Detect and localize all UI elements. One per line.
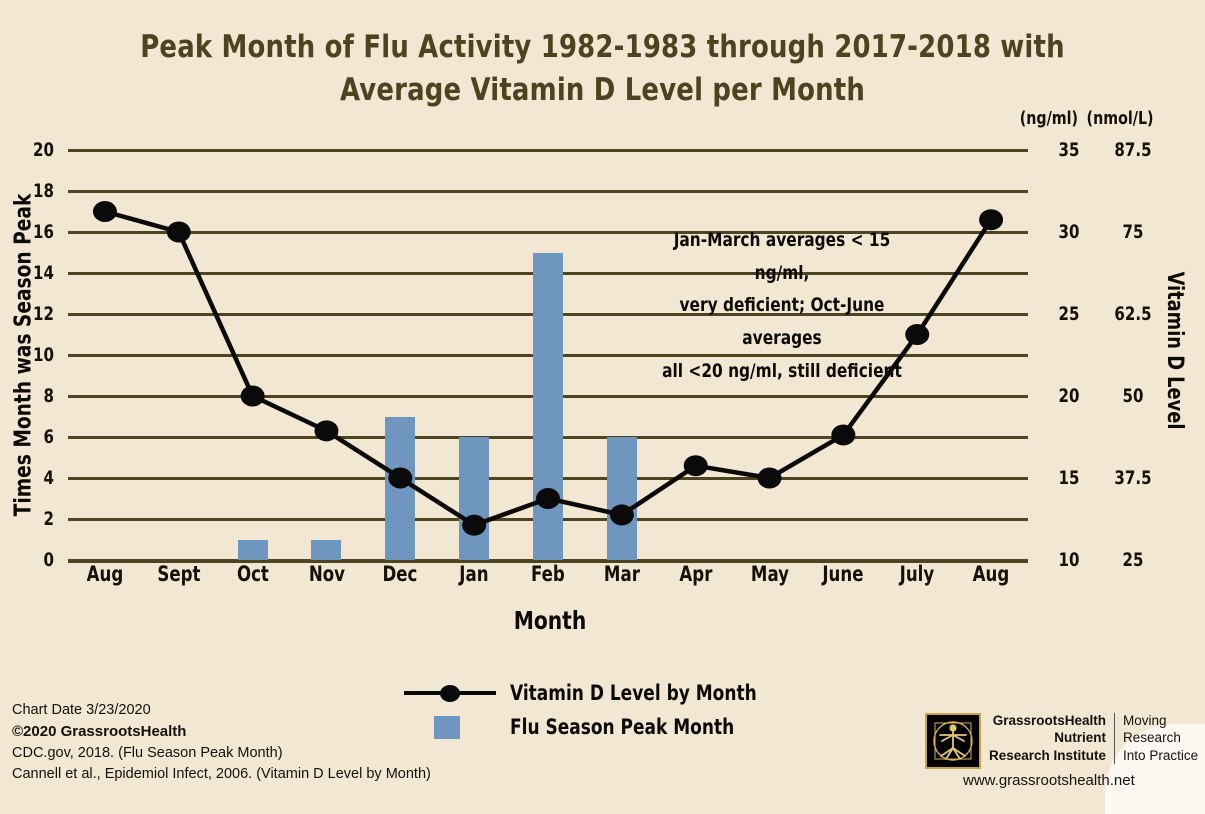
x-axis-tick-jan-5: Jan: [442, 562, 507, 586]
logo-name-line-3: Research Institute: [989, 747, 1106, 764]
x-axis-tick-apr-8: Apr: [663, 562, 728, 586]
logo-text-block: GrassrootsHealth Nutrient Research Insti…: [989, 712, 1198, 764]
chart-annotation: Jan-March averages < 15 ng/ml, very defi…: [647, 224, 917, 387]
data-point-marker[interactable]: [167, 222, 191, 243]
logo-name-line-2: Nutrient: [989, 729, 1106, 746]
right-axis-nmol-tick-label: 25: [1102, 549, 1164, 571]
chart-title-line-1: Peak Month of Flu Activity 1982-1983 thr…: [140, 29, 1064, 65]
footer-source-cannell: Cannell et al., Epidemiol Infect, 2006. …: [12, 764, 431, 785]
right-axis-nmol-tick-label: 75: [1102, 221, 1164, 243]
data-point-marker[interactable]: [831, 424, 855, 445]
right-axis-ngml-tick-label: 20: [1045, 385, 1093, 407]
logo-tagline-line-3: Into Practice: [1123, 747, 1198, 764]
right-axis-ngml-tick-label: 25: [1045, 303, 1093, 325]
right-axis-unit-ngml: (ng/ml): [1020, 108, 1075, 129]
right-axis-nmol-tick-label: 62.5: [1102, 303, 1164, 325]
annotation-line-1: Jan-March averages < 15 ng/ml,: [647, 224, 917, 289]
right-axis-ngml-tick-label: 35: [1045, 139, 1093, 161]
right-axis-nmol-tick-label: 50: [1102, 385, 1164, 407]
legend-item-flu-peak[interactable]: Flu Season Peak Month: [404, 710, 784, 744]
chart-title-line-2: Average Vitamin D Level per Month: [42, 69, 1163, 112]
data-point-marker[interactable]: [684, 455, 708, 476]
right-axis-unit-nmol: (nmol/L): [1087, 108, 1154, 129]
x-axis-tick-sept-1: Sept: [146, 562, 211, 586]
x-axis-tick-dec-4: Dec: [368, 562, 433, 586]
legend-item-vitamin-d[interactable]: Vitamin D Level by Month: [404, 676, 784, 710]
legend-label-flu-peak: Flu Season Peak Month: [510, 715, 734, 739]
x-axis-tick-feb-6: Feb: [515, 562, 580, 586]
left-axis-title: Times Month was Season Peak: [8, 150, 38, 560]
x-axis-title: Month: [55, 606, 1045, 635]
vitruvian-man-icon: [925, 713, 981, 769]
chart-title: Peak Month of Flu Activity 1982-1983 thr…: [42, 26, 1163, 112]
chart-legend: Vitamin D Level by Month Flu Season Peak…: [404, 676, 784, 744]
footer-source-cdc: CDC.gov, 2018. (Flu Season Peak Month): [12, 743, 431, 764]
right-axis-ngml-tick-label: 30: [1045, 221, 1093, 243]
x-axis-tick-july-11: July: [885, 562, 950, 586]
x-axis-tick-nov-3: Nov: [294, 562, 359, 586]
annotation-line-2: very deficient; Oct-June averages: [647, 289, 917, 354]
data-point-marker[interactable]: [758, 468, 782, 489]
annotation-line-3: all <20 ng/ml, still deficient: [647, 355, 917, 388]
left-axis-title-text: Times Month was Season Peak: [10, 194, 36, 517]
right-axis-ngml-tick-label: 10: [1045, 549, 1093, 571]
data-point-marker[interactable]: [610, 504, 634, 525]
footer-copyright: ©2020 GrassrootsHealth: [12, 721, 431, 743]
data-point-marker[interactable]: [536, 488, 560, 509]
right-axis-title-text: Vitamin D Level: [1163, 271, 1188, 429]
data-point-marker[interactable]: [93, 201, 117, 222]
logo-divider: [1114, 713, 1115, 764]
right-axis-nmol-tick-label: 87.5: [1102, 139, 1164, 161]
logo-website-url[interactable]: www.grassrootshealth.net: [963, 772, 1135, 789]
x-axis-tick-aug-0: Aug: [72, 562, 137, 586]
logo-org-name: GrassrootsHealth Nutrient Research Insti…: [989, 712, 1106, 764]
grassroots-health-logo[interactable]: GrassrootsHealth Nutrient Research Insti…: [925, 712, 1198, 769]
footer-citations: Chart Date 3/23/2020 ©2020 GrassrootsHea…: [12, 700, 431, 785]
footer-chart-date: Chart Date 3/23/2020: [12, 700, 431, 721]
logo-tagline: Moving Research Into Practice: [1123, 712, 1198, 764]
logo-tagline-line-2: Research: [1123, 729, 1198, 746]
right-axis-ngml-tick-label: 15: [1045, 467, 1093, 489]
legend-label-vitamin-d: Vitamin D Level by Month: [510, 681, 757, 705]
right-axis-title: Vitamin D Level: [1158, 250, 1192, 450]
data-point-marker[interactable]: [314, 420, 338, 441]
data-point-marker[interactable]: [979, 209, 1003, 230]
x-axis-tick-mar-7: Mar: [589, 562, 654, 586]
logo-tagline-line-1: Moving: [1123, 712, 1198, 729]
x-axis-tick-labels: AugSeptOctNovDecJanFebMarAprMayJuneJulyA…: [68, 562, 1028, 598]
data-point-marker[interactable]: [241, 386, 265, 407]
x-axis-tick-may-9: May: [737, 562, 802, 586]
data-point-marker[interactable]: [388, 468, 412, 489]
x-axis-tick-aug-12: Aug: [959, 562, 1024, 586]
x-axis-tick-oct-2: Oct: [220, 562, 285, 586]
logo-name-line-1: GrassrootsHealth: [989, 712, 1106, 729]
data-point-marker[interactable]: [462, 515, 486, 536]
x-axis-tick-june-10: June: [811, 562, 876, 586]
right-axis-nmol-tick-label: 37.5: [1102, 467, 1164, 489]
